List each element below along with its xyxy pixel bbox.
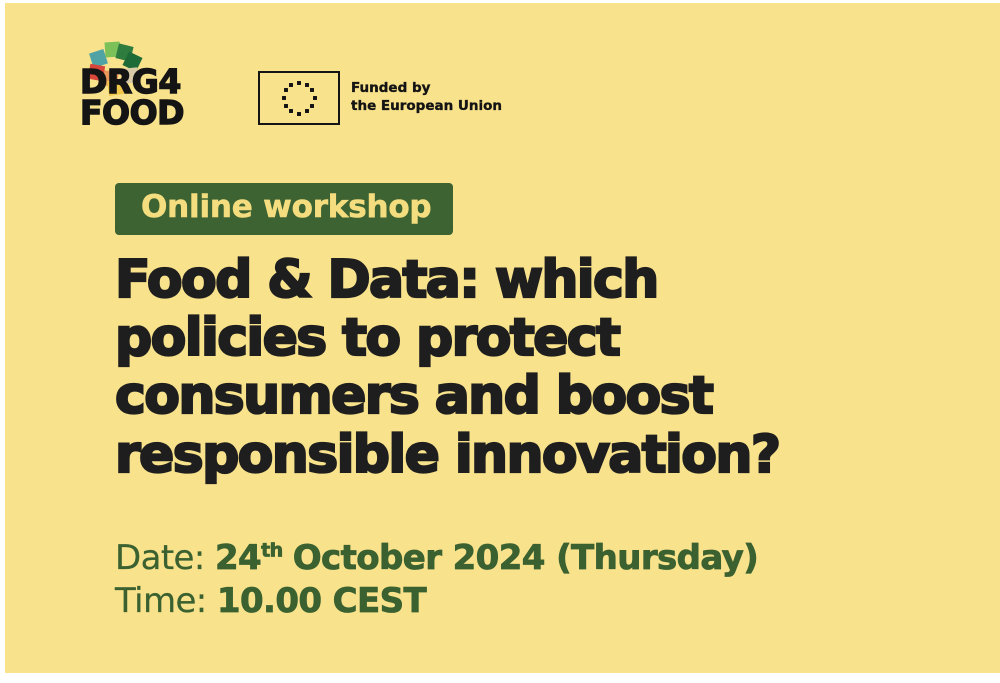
- drg4food-brand: DRG4 FOOD: [80, 41, 230, 133]
- event-type-badge: Online workshop: [115, 183, 453, 235]
- page-title: Food & Data: which policies to protect c…: [115, 251, 975, 484]
- brand-line-2: FOOD: [80, 98, 184, 129]
- eu-star-icon: [310, 88, 314, 92]
- eu-star-icon: [313, 96, 317, 100]
- eu-star-icon: [282, 96, 286, 100]
- event-meta: Date: 24th October 2024 (Thursday) Time:…: [115, 537, 758, 622]
- eu-star-icon: [310, 104, 314, 108]
- eu-funding-block: Funded by the European Union: [258, 71, 502, 125]
- event-time-row: Time: 10.00 CEST: [115, 580, 758, 623]
- poster-canvas: DRG4 FOOD Funded by the European Union O…: [5, 3, 1000, 673]
- time-value: 10.00 CEST: [217, 581, 426, 621]
- time-label: Time:: [115, 581, 207, 621]
- eu-star-icon: [297, 81, 301, 85]
- eu-funding-line-2: the European Union: [351, 98, 502, 116]
- date-label: Date:: [115, 538, 205, 578]
- eu-star-icon: [305, 83, 309, 87]
- eu-star-icon: [284, 104, 288, 108]
- date-day: 24: [215, 538, 261, 578]
- page-title-line-1: Food & Data: which: [115, 251, 975, 309]
- eu-funding-text: Funded by the European Union: [351, 80, 502, 116]
- event-date-row: Date: 24th October 2024 (Thursday): [115, 537, 758, 580]
- page-title-line-4: responsible innovation?: [115, 426, 975, 484]
- eu-star-icon: [284, 88, 288, 92]
- eu-funding-line-1: Funded by: [351, 80, 502, 98]
- eu-star-icon: [289, 109, 293, 113]
- brand-wordmark: DRG4 FOOD: [80, 67, 184, 128]
- eu-flag-icon: [258, 71, 340, 125]
- date-ordinal-suffix: th: [261, 540, 282, 562]
- page-title-line-2: policies to protect: [115, 309, 975, 367]
- header-row: DRG4 FOOD Funded by the European Union: [80, 41, 502, 133]
- eu-star-icon: [297, 112, 301, 116]
- eu-star-icon: [305, 109, 309, 113]
- date-rest: October 2024 (Thursday): [293, 538, 758, 578]
- page-title-line-3: consumers and boost: [115, 367, 975, 425]
- eu-star-icon: [289, 83, 293, 87]
